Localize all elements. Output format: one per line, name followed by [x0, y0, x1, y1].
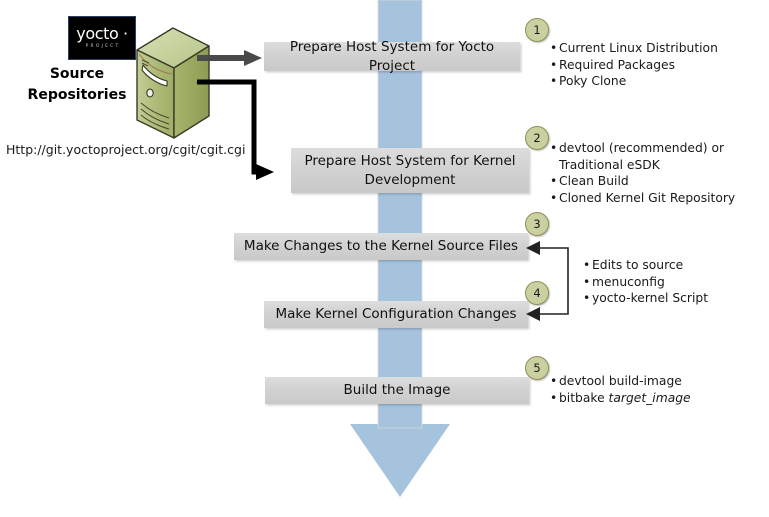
list-item-label: Cloned Kernel Git Repository: [559, 190, 766, 207]
list-item: • Required Packages: [550, 57, 765, 74]
bullet-dot: •: [550, 390, 559, 407]
bullet-dot: •: [550, 173, 559, 190]
list-item: • Cloned Kernel Git Repository: [550, 190, 766, 207]
step-box-2[interactable]: Prepare Host System for Kernel Developme…: [291, 148, 529, 193]
steps-3-4-shared-notes: • Edits to source • menuconfig • yocto-k…: [583, 257, 763, 307]
list-item-label: devtool (recommended) or Traditional eSD…: [559, 140, 766, 173]
list-item: • yocto-kernel Script: [583, 290, 763, 307]
list-item-label: Edits to source: [592, 257, 763, 274]
bullet-dot: •: [550, 140, 559, 157]
bullet-dot: •: [550, 373, 559, 390]
list-item: • bitbake target_image: [550, 390, 760, 407]
list-item: • Current Linux Distribution: [550, 40, 765, 57]
step-box-5[interactable]: Build the Image: [265, 377, 529, 404]
step-box-1-label: Prepare Host System for Yocto Project: [272, 38, 512, 76]
step-box-3-label: Make Changes to the Kernel Source Files: [244, 237, 518, 256]
server-connector-lines: [0, 0, 300, 200]
list-item: • Poky Clone: [550, 73, 765, 90]
list-item-label: Poky Clone: [559, 73, 765, 90]
step-badge-4-number: 4: [533, 286, 540, 300]
step-badge-2-number: 2: [533, 131, 540, 145]
list-item: • devtool (recommended) or Traditional e…: [550, 140, 766, 173]
step-box-5-label: Build the Image: [344, 381, 451, 400]
list-item: • devtool build-image: [550, 373, 760, 390]
step-badge-3-number: 3: [533, 217, 540, 231]
step-badge-1: 1: [525, 18, 549, 42]
step-1-notes: • Current Linux Distribution • Required …: [550, 40, 765, 90]
list-item-label: Clean Build: [559, 173, 766, 190]
step-badge-3: 3: [525, 212, 549, 236]
list-item: • Clean Build: [550, 173, 766, 190]
step-box-3[interactable]: Make Changes to the Kernel Source Files: [234, 233, 528, 260]
connector-to-step-2: [197, 82, 274, 180]
step-badge-1-number: 1: [533, 23, 540, 37]
step-box-4-label: Make Kernel Configuration Changes: [275, 305, 516, 324]
list-item: • Edits to source: [583, 257, 763, 274]
step-box-4[interactable]: Make Kernel Configuration Changes: [264, 301, 528, 328]
step-5-notes: • devtool build-image • bitbake target_i…: [550, 373, 760, 406]
step-badge-5: 5: [525, 356, 549, 380]
list-item-label: Required Packages: [559, 57, 765, 74]
diagram-canvas: yocto · PROJECT Source Repositories Http…: [0, 0, 769, 517]
bullet-dot: •: [550, 40, 559, 57]
list-item-label: yocto-kernel Script: [592, 290, 763, 307]
list-item: • menuconfig: [583, 274, 763, 291]
list-item-label: Current Linux Distribution: [559, 40, 765, 57]
bullet-dot: •: [550, 190, 559, 207]
step-badge-5-number: 5: [533, 361, 540, 375]
list-item-label-italic-tail: bitbake target_image: [559, 390, 760, 407]
step-badge-2: 2: [525, 126, 549, 150]
step-box-1[interactable]: Prepare Host System for Yocto Project: [264, 42, 520, 71]
bullet-dot: •: [550, 57, 559, 74]
step-box-2-label: Prepare Host System for Kernel Developme…: [299, 152, 521, 190]
connector-to-step-1: [197, 50, 262, 66]
bullet-dot: •: [550, 73, 559, 90]
list-item-label: menuconfig: [592, 274, 763, 291]
step-badge-4: 4: [525, 281, 549, 305]
list-item-label: devtool build-image: [559, 373, 760, 390]
step-2-notes: • devtool (recommended) or Traditional e…: [550, 140, 766, 206]
